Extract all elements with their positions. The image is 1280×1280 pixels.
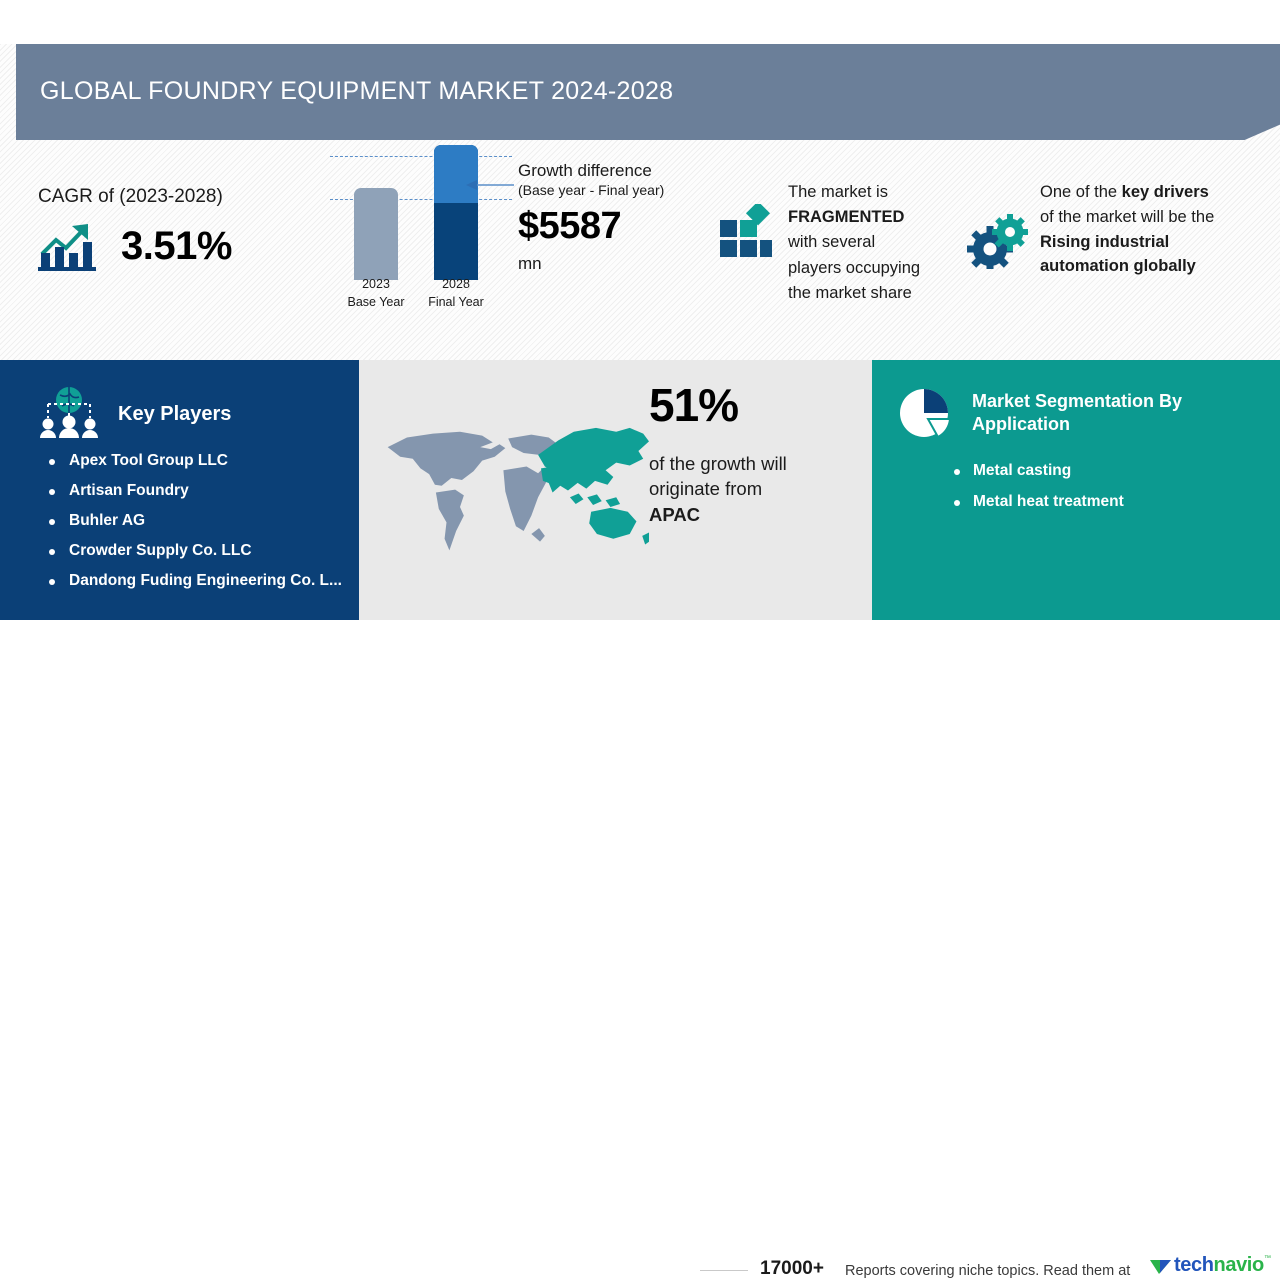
growth-bar-chart: 2023 Base Year 2028 Final Year	[330, 150, 520, 325]
bar-base-year	[354, 188, 398, 280]
technavio-wordmark: technavio	[1174, 1254, 1264, 1277]
cagr-value: 3.51%	[121, 224, 232, 269]
bar-final-year-caption: 2028 Final Year	[421, 275, 491, 311]
growth-difference-block: Growth difference (Base year - Final yea…	[518, 160, 718, 274]
bar-base-year-value: 2023	[341, 275, 411, 293]
cagr-block: CAGR of (2023-2028) 3.51%	[38, 186, 318, 272]
fragmentation-line3: players occupying	[788, 259, 920, 277]
fragmented-squares-icon	[718, 204, 772, 260]
market-fragmentation-text: The market is FRAGMENTED with several pl…	[788, 180, 920, 306]
trademark-symbol: ™	[1264, 1255, 1271, 1262]
key-players-list: Apex Tool Group LLC Artisan Foundry Buhl…	[42, 452, 372, 602]
header-banner: GLOBAL FOUNDRY EQUIPMENT MARKET 2024-202…	[16, 44, 1280, 140]
growth-difference-value: $5587	[518, 207, 718, 245]
region-panel: 51% of the growth will originate from AP…	[359, 360, 872, 620]
fragmentation-highlight: FRAGMENTED	[788, 208, 904, 226]
key-players-title: Key Players	[118, 403, 231, 426]
fragmentation-line1: The market is	[788, 183, 888, 201]
bar-chart-growth-icon	[38, 220, 100, 272]
callout-arrow-icon	[466, 178, 514, 192]
key-players-header: Key Players	[36, 386, 231, 442]
list-item: Metal heat treatment	[948, 493, 1124, 511]
growth-difference-title: Growth difference	[518, 160, 718, 181]
region-description: of the growth will originate from APAC	[649, 451, 849, 527]
segmentation-panel: Market Segmentation By Application Metal…	[872, 360, 1280, 620]
logo-text-navio: navio	[1214, 1254, 1264, 1276]
region-stat-block: 51% of the growth will originate from AP…	[649, 382, 849, 527]
bar-final-year-value: 2028	[421, 275, 491, 293]
pie-chart-icon	[898, 385, 954, 441]
logo-text-tech: tech	[1174, 1254, 1214, 1276]
footer: 17000+ Reports covering niche topics. Re…	[0, 620, 1280, 720]
list-item: Buhler AG	[42, 512, 372, 530]
region-line2: originate from	[649, 478, 762, 499]
drivers-bold1: Rising industrial	[1040, 233, 1169, 251]
segmentation-header: Market Segmentation By Application	[898, 385, 1280, 441]
region-percent: 51%	[649, 382, 849, 428]
drivers-line1-bold: key drivers	[1122, 183, 1209, 201]
drivers-bold2: automation globally	[1040, 257, 1196, 275]
segmentation-title: Market Segmentation By Application	[972, 390, 1280, 436]
market-fragmentation-block: The market is FRAGMENTED with several pl…	[718, 180, 948, 306]
segmentation-list: Metal casting Metal heat treatment	[948, 462, 1124, 524]
technavio-arrow-icon	[1150, 1257, 1171, 1275]
growth-difference-unit: mn	[518, 254, 718, 274]
gears-icon	[966, 213, 1028, 269]
drivers-line2: of the market will be the	[1040, 208, 1214, 226]
footer-text: Reports covering niche topics. Read them…	[845, 1263, 1130, 1279]
bar-base-year-caption: 2023 Base Year	[341, 275, 411, 311]
gridline-final	[330, 156, 512, 157]
list-item: Dandong Fuding Engineering Co. L...	[42, 572, 372, 590]
footer-report-count: 17000+	[760, 1258, 824, 1280]
region-name: APAC	[649, 504, 700, 525]
list-item: Crowder Supply Co. LLC	[42, 542, 372, 560]
cagr-label: CAGR of (2023-2028)	[38, 186, 318, 208]
bar-base-year-label: Base Year	[341, 293, 411, 311]
list-item: Apex Tool Group LLC	[42, 452, 372, 470]
key-players-panel: Key Players Apex Tool Group LLC Artisan …	[0, 360, 359, 620]
bar-final-year	[434, 145, 478, 280]
list-item: Metal casting	[948, 462, 1124, 480]
bar-final-year-label: Final Year	[421, 293, 491, 311]
key-drivers-text: One of the key drivers of the market wil…	[1040, 180, 1214, 279]
footer-divider	[700, 1270, 748, 1271]
cagr-row: 3.51%	[38, 220, 318, 272]
technavio-logo[interactable]: technavio ™	[1150, 1254, 1270, 1280]
world-map-apac-highlight	[379, 412, 649, 572]
globe-network-people-icon	[36, 386, 102, 442]
region-line1: of the growth will	[649, 453, 787, 474]
key-drivers-block: One of the key drivers of the market wil…	[966, 180, 1266, 279]
growth-difference-subtitle: (Base year - Final year)	[518, 182, 718, 198]
list-item: Artisan Foundry	[42, 482, 372, 500]
fragmentation-line2: with several	[788, 233, 875, 251]
page-title: GLOBAL FOUNDRY EQUIPMENT MARKET 2024-202…	[40, 77, 673, 106]
fragmentation-line4: the market share	[788, 284, 912, 302]
drivers-line1-pre: One of the	[1040, 183, 1122, 201]
infographic-page: GLOBAL FOUNDRY EQUIPMENT MARKET 2024-202…	[0, 0, 1280, 720]
